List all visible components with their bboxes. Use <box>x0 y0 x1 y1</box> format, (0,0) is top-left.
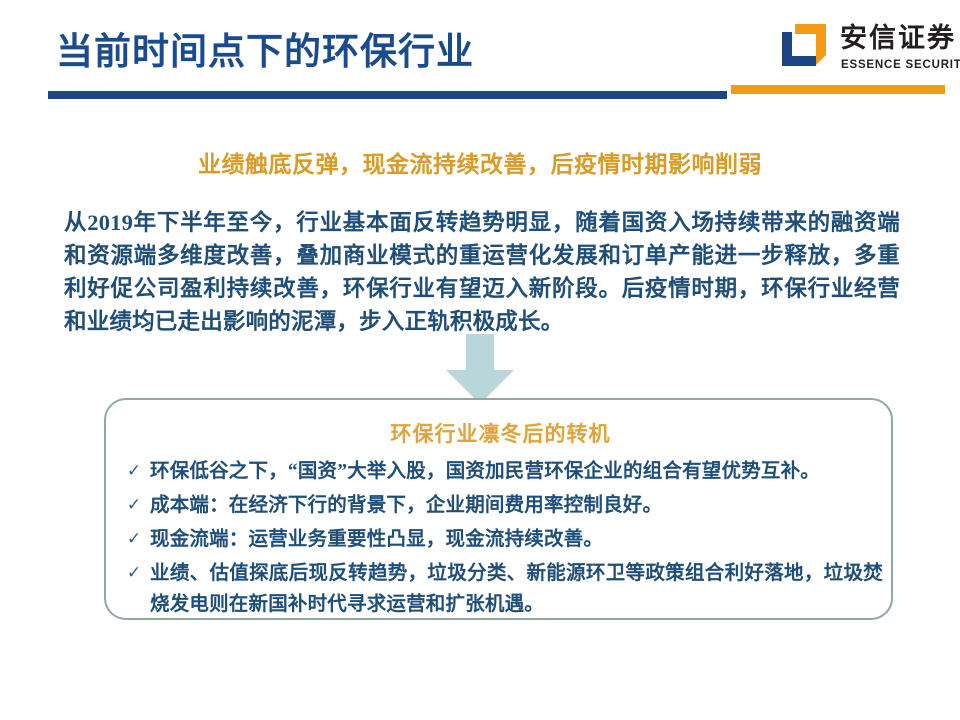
title-underline-blue <box>48 91 727 99</box>
slide-header: 当前时间点下的环保行业 安信证券 ESSENCE SECURITIES <box>0 0 960 110</box>
slide-subtitle: 业绩触底反弹，现金流持续改善，后疫情时期影响削弱 <box>0 145 960 179</box>
callout-bullet-list: ✓ 环保低谷之下，“国资”大举入股，国资加民营环保企业的组合有望优势互补。 ✓ … <box>118 456 883 623</box>
list-item-text: 环保低谷之下，“国资”大举入股，国资加民营环保企业的组合有望优势互补。 <box>150 456 883 487</box>
logo-name-cn: 安信证券 <box>840 24 956 54</box>
essence-securities-logo-mark <box>780 22 830 68</box>
list-item-text: 现金流端：运营业务重要性凸显，现金流持续改善。 <box>150 524 883 555</box>
brand-logo: 安信证券 ESSENCE SECURITIES <box>780 22 948 78</box>
title-underline-orange <box>731 85 945 94</box>
slide-root: 当前时间点下的环保行业 安信证券 ESSENCE SECURITIES 业绩触底… <box>0 0 960 720</box>
logo-name-en: ESSENCE SECURITIES <box>841 59 960 71</box>
page-title: 当前时间点下的环保行业 <box>56 33 474 70</box>
list-item: ✓ 业绩、估值探底后现反转趋势，垃圾分类、新能源环卫等政策组合利好落地，垃圾焚烧… <box>118 558 883 620</box>
callout-box: 环保行业凛冬后的转机 ✓ 环保低谷之下，“国资”大举入股，国资加民营环保企业的组… <box>104 398 893 620</box>
list-item: ✓ 成本端：在经济下行的背景下，企业期间费用率控制良好。 <box>118 490 883 521</box>
list-item: ✓ 环保低谷之下，“国资”大举入股，国资加民营环保企业的组合有望优势互补。 <box>118 456 883 487</box>
check-icon: ✓ <box>118 558 150 589</box>
callout-title: 环保行业凛冬后的转机 <box>106 418 895 448</box>
check-icon: ✓ <box>118 490 150 521</box>
list-item-text: 业绩、估值探底后现反转趋势，垃圾分类、新能源环卫等政策组合利好落地，垃圾焚烧发电… <box>150 558 883 620</box>
list-item-text: 成本端：在经济下行的背景下，企业期间费用率控制良好。 <box>150 490 883 521</box>
list-item: ✓ 现金流端：运营业务重要性凸显，现金流持续改善。 <box>118 524 883 555</box>
down-arrow-icon <box>430 334 530 406</box>
body-paragraph: 从2019年下半年至今，行业基本面反转趋势明显，随着国资入场持续带来的融资端和资… <box>64 206 900 338</box>
check-icon: ✓ <box>118 524 150 555</box>
check-icon: ✓ <box>118 456 150 487</box>
